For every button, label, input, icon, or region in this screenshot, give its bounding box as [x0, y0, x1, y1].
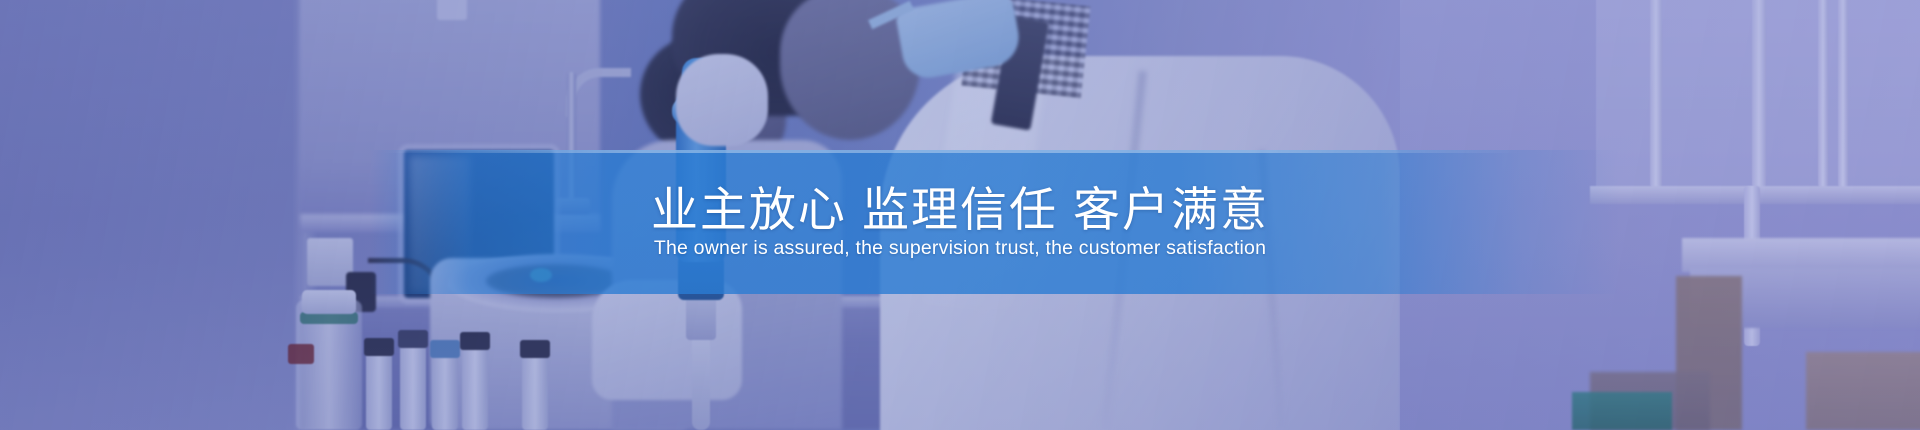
banner-subtitle: The owner is assured, the supervision tr…	[654, 239, 1266, 259]
banner-hero: 业主放心 监理信任 客户满意 The owner is assured, the…	[0, 0, 1920, 430]
slogan-text-group: 业主放心 监理信任 客户满意 The owner is assured, the…	[0, 150, 1920, 294]
banner-headline: 业主放心 监理信任 客户满意	[651, 186, 1269, 233]
